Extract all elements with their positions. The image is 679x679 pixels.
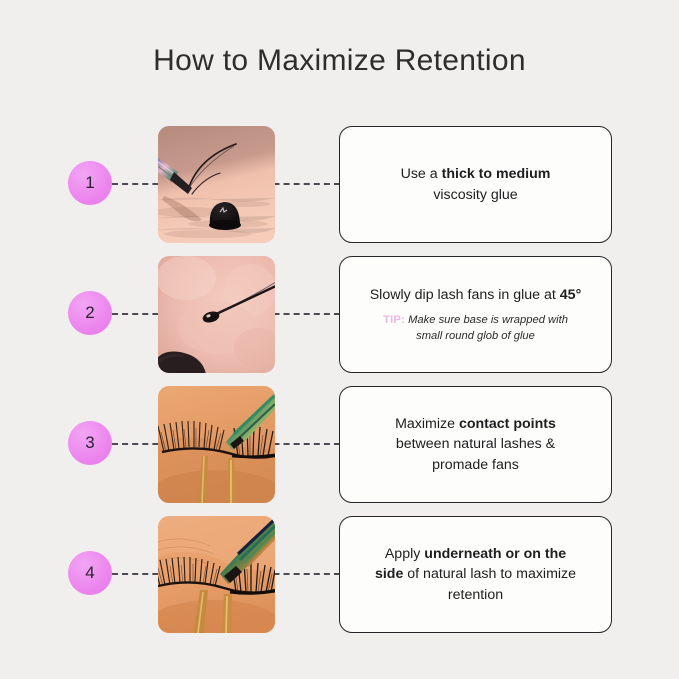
- card-line: Apply underneath or on the: [385, 544, 566, 565]
- lash-fan-dipped-in-glue-photo: [158, 256, 275, 373]
- step-number-label: 2: [85, 303, 94, 323]
- step-number-badge: 2: [68, 291, 112, 335]
- card-line: Slowly dip lash fans in glue at 45°: [370, 285, 582, 306]
- step-text-card: Slowly dip lash fans in glue at 45° TIP:…: [339, 256, 612, 373]
- tip-line: TIP: Make sure base is wrapped with: [383, 312, 568, 328]
- step-number-badge: 4: [68, 551, 112, 595]
- step-row: 3: [0, 386, 679, 516]
- step-number-label: 1: [85, 173, 94, 193]
- step-row: 1: [0, 126, 679, 256]
- steps-list: 1: [0, 126, 679, 646]
- step-number-label: 4: [85, 563, 94, 583]
- card-line: retention: [448, 585, 503, 606]
- step-text-card: Maximize contact points between natural …: [339, 386, 612, 503]
- card-line: promade fans: [432, 455, 519, 476]
- tip-label: TIP:: [383, 314, 405, 326]
- step-number-label: 3: [85, 433, 94, 453]
- step-row: 2: [0, 256, 679, 386]
- card-line: side of natural lash to maximize: [375, 564, 576, 585]
- step-row: 4: [0, 516, 679, 646]
- step-text-card: Use a thick to medium viscosity glue: [339, 126, 612, 243]
- tip-block: TIP: Make sure base is wrapped with smal…: [383, 312, 568, 344]
- card-line: Maximize contact points: [395, 414, 556, 435]
- step-text-card: Apply underneath or on the side of natur…: [339, 516, 612, 633]
- glue-drop-and-lash-on-tweezer-photo: [158, 126, 275, 243]
- step-number-badge: 1: [68, 161, 112, 205]
- card-line: between natural lashes &: [396, 434, 555, 455]
- lash-applied-underneath-natural-lash-photo: [158, 516, 275, 633]
- tip-text: Make sure base is wrapped with: [408, 314, 568, 326]
- tip-text: small round glob of glue: [416, 330, 535, 342]
- card-line: Use a thick to medium: [401, 164, 551, 185]
- step-number-badge: 3: [68, 421, 112, 465]
- lash-extension-contact-points-photo: [158, 386, 275, 503]
- card-line: viscosity glue: [433, 185, 517, 206]
- tip-line: small round glob of glue: [383, 328, 568, 344]
- page-title: How to Maximize Retention: [0, 44, 679, 78]
